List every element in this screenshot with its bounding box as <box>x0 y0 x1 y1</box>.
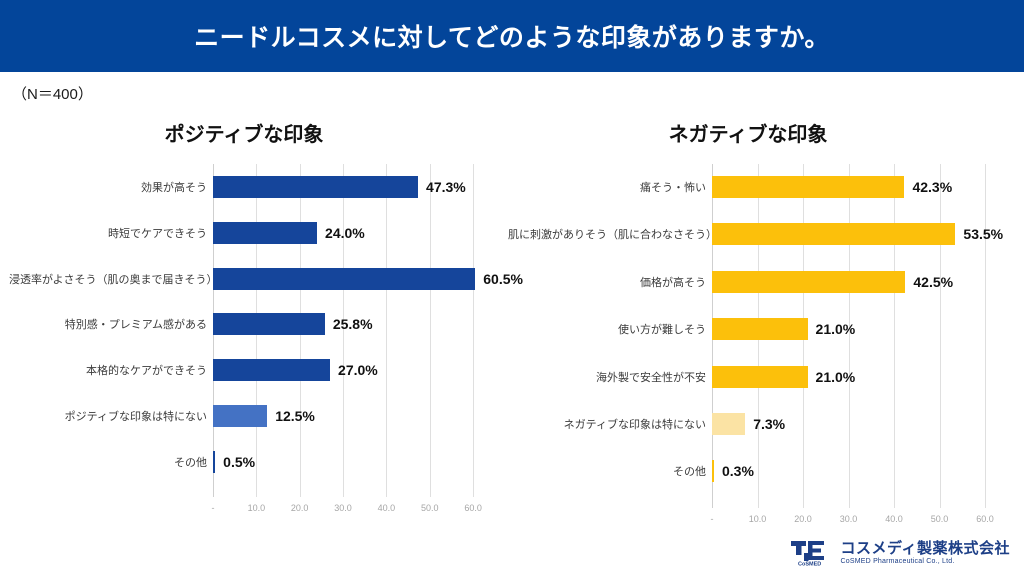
chart-positive-row: ポジティブな印象は特にない12.5% <box>0 405 512 427</box>
chart-negative: ネガティブな印象 痛そう・怖い42.3%肌に刺激がありそう（肌に合わなさそう）5… <box>500 108 1024 518</box>
chart-positive-row: 本格的なケアができそう27.0% <box>0 359 512 381</box>
chart-positive-category-label: ポジティブな印象は特にない <box>9 408 207 424</box>
chart-negative-value-label: 0.3% <box>722 463 754 479</box>
chart-negative-category-label: 肌に刺激がありそう（肌に合わなさそう） <box>508 226 706 242</box>
chart-negative-row: 海外製で安全性が不安21.0% <box>500 366 1024 388</box>
slide-header: ニードルコスメに対してどのような印象がありますか。 <box>0 0 1024 72</box>
chart-positive-bar[interactable] <box>213 176 418 198</box>
chart-negative-row: 使い方が難しそう21.0% <box>500 318 1024 340</box>
chart-negative-x-tick: 60.0 <box>976 514 994 524</box>
chart-negative-value-label: 42.5% <box>913 274 953 290</box>
chart-positive-plot: 効果が高そう47.3%時短でケアできそう24.0%浸透率がよさそう（肌の奥まで届… <box>0 108 512 518</box>
chart-negative-x-tick: 20.0 <box>794 514 812 524</box>
chart-positive-category-label: その他 <box>9 454 207 470</box>
chart-positive: ポジティブな印象 効果が高そう47.3%時短でケアできそう24.0%浸透率がよさ… <box>0 108 512 518</box>
chart-positive-value-label: 27.0% <box>338 362 378 378</box>
chart-negative-row: 肌に刺激がありそう（肌に合わなさそう）53.5% <box>500 223 1024 245</box>
chart-negative-x-tick: 10.0 <box>749 514 767 524</box>
chart-positive-x-tick: 40.0 <box>378 503 396 513</box>
chart-negative-bar[interactable] <box>712 223 955 245</box>
chart-positive-value-label: 0.5% <box>223 454 255 470</box>
chart-positive-category-label: 時短でケアできそう <box>9 225 207 241</box>
chart-negative-row: その他0.3% <box>500 460 1024 482</box>
chart-positive-bar[interactable] <box>213 451 215 473</box>
chart-positive-row: 特別感・プレミアム感がある25.8% <box>0 313 512 335</box>
chart-negative-plot: 痛そう・怖い42.3%肌に刺激がありそう（肌に合わなさそう）53.5%価格が高そ… <box>500 108 1024 518</box>
chart-negative-bar[interactable] <box>712 176 904 198</box>
footer-logo-text: コスメディ製薬株式会社 CoSMED Pharmaceutical Co., L… <box>841 541 1010 565</box>
company-name-jp: コスメディ製薬株式会社 <box>841 541 1010 557</box>
slide-root: ニードルコスメに対してどのような印象がありますか。 （N＝400） ポジティブな… <box>0 0 1024 576</box>
cosmed-logo-mark-icon: CoSMED <box>789 538 833 568</box>
chart-negative-value-label: 53.5% <box>963 226 1003 242</box>
chart-negative-category-label: 使い方が難しそう <box>508 321 706 337</box>
chart-positive-category-label: 効果が高そう <box>9 179 207 195</box>
chart-negative-value-label: 42.3% <box>912 179 952 195</box>
chart-negative-x-tick: 30.0 <box>840 514 858 524</box>
sample-size-note: （N＝400） <box>12 83 93 104</box>
chart-positive-row: 浸透率がよさそう（肌の奥まで届きそう）60.5% <box>0 268 512 290</box>
chart-negative-category-label: ネガティブな印象は特にない <box>508 416 706 432</box>
chart-negative-value-label: 21.0% <box>816 321 856 337</box>
chart-positive-x-tick: 30.0 <box>334 503 352 513</box>
chart-positive-x-tick: 10.0 <box>248 503 266 513</box>
chart-positive-category-label: 浸透率がよさそう（肌の奥まで届きそう） <box>9 271 207 287</box>
chart-positive-x-tick: 20.0 <box>291 503 309 513</box>
chart-positive-value-label: 25.8% <box>333 316 373 332</box>
chart-negative-category-label: その他 <box>508 463 706 479</box>
chart-negative-category-label: 価格が高そう <box>508 274 706 290</box>
chart-positive-value-label: 24.0% <box>325 225 365 241</box>
chart-positive-row: その他0.5% <box>0 451 512 473</box>
chart-positive-x-tick: - <box>212 503 215 513</box>
chart-positive-bar[interactable] <box>213 405 267 427</box>
svg-text:CoSMED: CoSMED <box>798 562 821 568</box>
chart-negative-value-label: 21.0% <box>816 369 856 385</box>
chart-positive-row: 効果が高そう47.3% <box>0 176 512 198</box>
chart-positive-value-label: 47.3% <box>426 179 466 195</box>
chart-positive-x-tick: 50.0 <box>421 503 439 513</box>
footer-logo: CoSMED コスメディ製薬株式会社 CoSMED Pharmaceutical… <box>789 538 1010 568</box>
chart-positive-category-label: 本格的なケアができそう <box>9 362 207 378</box>
chart-negative-value-label: 7.3% <box>753 416 785 432</box>
chart-negative-bar[interactable] <box>712 460 714 482</box>
chart-negative-x-tick: 40.0 <box>885 514 903 524</box>
chart-negative-category-label: 海外製で安全性が不安 <box>508 369 706 385</box>
chart-positive-bar[interactable] <box>213 268 475 290</box>
chart-positive-bar[interactable] <box>213 359 330 381</box>
company-name-en: CoSMED Pharmaceutical Co., Ltd. <box>841 558 1010 565</box>
chart-negative-x-tick: 50.0 <box>931 514 949 524</box>
chart-negative-category-label: 痛そう・怖い <box>508 179 706 195</box>
chart-negative-bar[interactable] <box>712 413 745 435</box>
page-title: ニードルコスメに対してどのような印象がありますか。 <box>194 18 830 54</box>
chart-negative-bar[interactable] <box>712 366 808 388</box>
chart-negative-x-tick: - <box>711 514 714 524</box>
chart-negative-row: 痛そう・怖い42.3% <box>500 176 1024 198</box>
chart-negative-row: ネガティブな印象は特にない7.3% <box>500 413 1024 435</box>
chart-positive-bar[interactable] <box>213 313 325 335</box>
chart-negative-row: 価格が高そう42.5% <box>500 271 1024 293</box>
chart-positive-x-tick: 60.0 <box>464 503 482 513</box>
chart-positive-value-label: 12.5% <box>275 408 315 424</box>
chart-positive-bar[interactable] <box>213 222 317 244</box>
chart-negative-bar[interactable] <box>712 271 905 293</box>
chart-positive-category-label: 特別感・プレミアム感がある <box>9 316 207 332</box>
chart-positive-row: 時短でケアできそう24.0% <box>0 222 512 244</box>
chart-negative-bar[interactable] <box>712 318 808 340</box>
